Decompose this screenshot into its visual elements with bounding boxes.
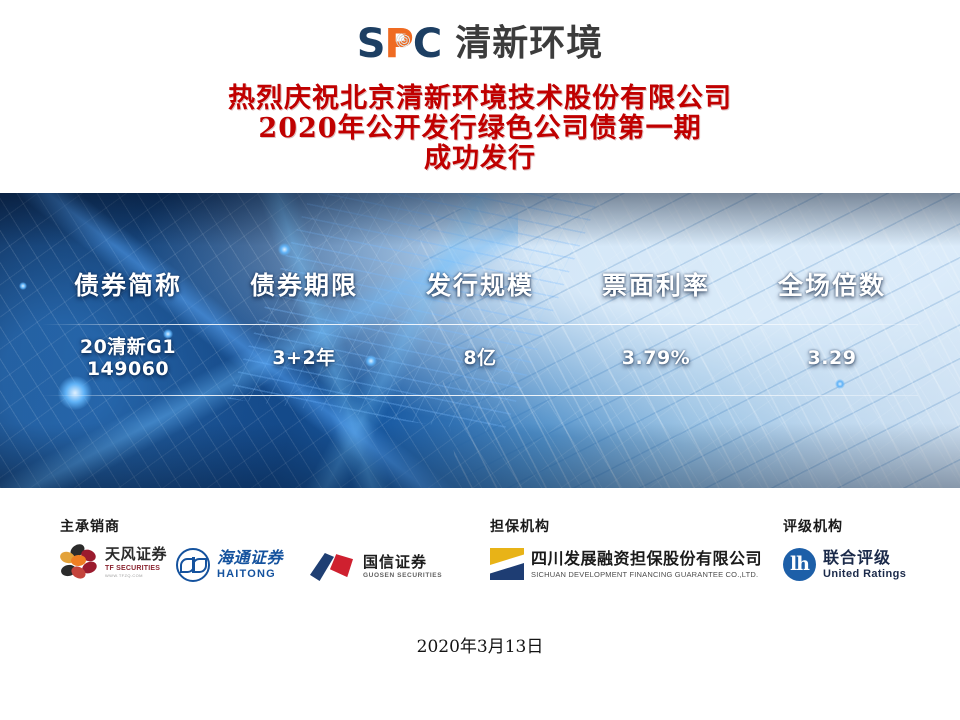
- announcement-poster: S P C 清新环境 热烈庆祝北京清新环境技术股份有限公司 2020年公开发行绿…: [0, 0, 960, 720]
- column-header-issue-size: 发行规模: [392, 266, 568, 302]
- label-rating-agency: 评级机构: [783, 516, 843, 536]
- column-header-bond-name: 债券简称: [40, 266, 216, 302]
- logo-letter-s: S: [357, 24, 385, 64]
- logo-guosen-name-en: GUOSEN SECURITIES: [363, 573, 442, 580]
- table-divider-top: [42, 324, 918, 325]
- column-header-subscription-multiple: 全场倍数: [744, 266, 920, 302]
- logo-letter-c: C: [413, 24, 441, 64]
- logo-tf-website: WWW.TFZQ.COM: [105, 574, 167, 578]
- headline-line-2: 2020年公开发行绿色公司债第一期: [0, 114, 960, 144]
- company-name-cn: 清新环境: [455, 26, 603, 62]
- guosen-emblem-icon: [310, 550, 356, 584]
- logo-haitong-securities: 海通证券 HAITONG: [176, 548, 283, 582]
- united-ratings-emblem-icon: lh: [783, 548, 816, 581]
- label-underwriters: 主承销商: [60, 516, 120, 536]
- logo-tf-name-cn: 天风证券: [105, 547, 167, 562]
- cell-issue-size: 8亿: [392, 347, 568, 369]
- logo-guosen-securities: 国信证券 GUOSEN SECURITIES: [310, 550, 442, 584]
- swirl-icon: [396, 33, 411, 48]
- logo-united-name-cn: 联合评级: [823, 550, 906, 566]
- table-header-row: 债券简称 债券期限 发行规模 票面利率 全场倍数: [40, 263, 920, 305]
- table-row: 20清新G1 149060 3+2年 8亿 3.79% 3.29: [40, 330, 920, 386]
- headline-line-3: 成功发行: [0, 144, 960, 174]
- logo-sichuan-name-en: SICHUAN DEVELOPMENT FINANCING GUARANTEE …: [531, 571, 762, 579]
- logo-tf-name-en: TF SECURITIES: [105, 565, 167, 572]
- headline-line-1: 热烈庆祝北京清新环境技术股份有限公司: [0, 84, 960, 114]
- sichuan-z-emblem-icon: [490, 548, 524, 582]
- bond-summary-table: 债券简称 债券期限 发行规模 票面利率 全场倍数 20清新G1 149060 3…: [0, 193, 960, 488]
- logo-united-name-en: United Ratings: [823, 569, 906, 580]
- logo-sichuan-development-financing-guarantee: 四川发展融资担保股份有限公司 SICHUAN DEVELOPMENT FINAN…: [490, 548, 762, 582]
- cell-bond-short-name: 20清新G1: [40, 336, 216, 358]
- logo-guosen-name-cn: 国信证券: [363, 555, 442, 570]
- united-ratings-monogram: lh: [790, 555, 809, 574]
- cell-bond-code: 149060: [40, 358, 216, 380]
- logo-letter-p: P: [385, 24, 413, 64]
- company-logo: S P C 清新环境: [0, 18, 960, 70]
- logo-tf-securities: 天风证券 TF SECURITIES WWW.TFZQ.COM: [58, 545, 167, 579]
- flower-icon: [58, 545, 98, 579]
- spc-logomark: S P C: [357, 24, 442, 64]
- logo-sichuan-name-cn: 四川发展融资担保股份有限公司: [531, 551, 762, 567]
- table-divider-bottom: [42, 395, 918, 396]
- logo-haitong-name-en: HAITONG: [217, 569, 283, 580]
- cell-subscription-multiple: 3.29: [744, 347, 920, 369]
- cell-bond-term: 3+2年: [216, 347, 392, 369]
- column-header-coupon-rate: 票面利率: [568, 266, 744, 302]
- page-title: 热烈庆祝北京清新环境技术股份有限公司 2020年公开发行绿色公司债第一期 成功发…: [0, 84, 960, 174]
- hero-banner: 债券简称 债券期限 发行规模 票面利率 全场倍数 20清新G1 149060 3…: [0, 193, 960, 488]
- label-guarantor: 担保机构: [490, 516, 550, 536]
- haitong-emblem-icon: [176, 548, 210, 582]
- column-header-bond-term: 债券期限: [216, 266, 392, 302]
- issue-date: 2020年3月13日: [0, 632, 960, 657]
- partners-footer: 主承销商 担保机构 评级机构 天风证券 TF SECURITIES WWW.TF: [0, 500, 960, 630]
- cell-bond-name: 20清新G1 149060: [40, 336, 216, 380]
- logo-haitong-name-cn: 海通证券: [217, 550, 283, 566]
- logo-united-ratings: lh 联合评级 United Ratings: [783, 548, 906, 581]
- cell-coupon-rate: 3.79%: [568, 347, 744, 369]
